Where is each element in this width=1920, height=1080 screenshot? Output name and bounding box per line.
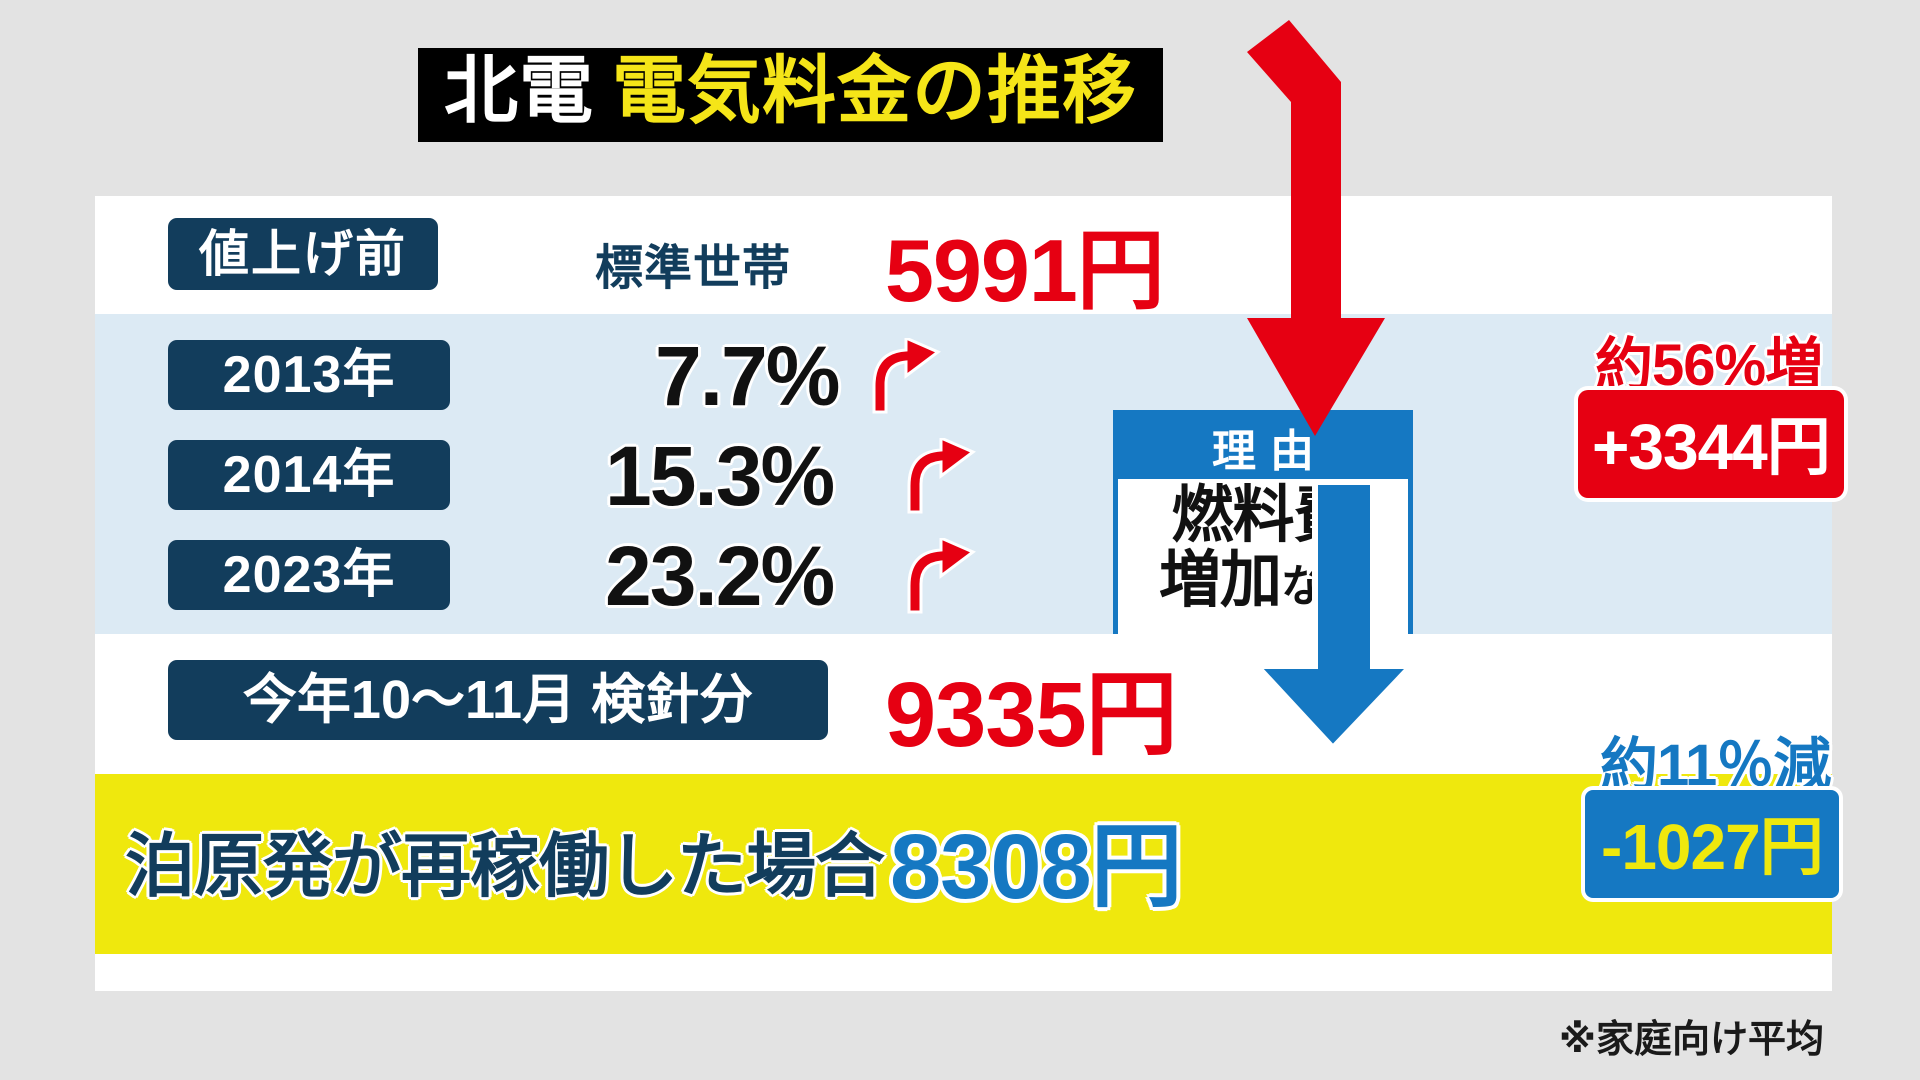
value-current-bill: 9335円 [885, 640, 1177, 773]
page-title: 北電 電気料金の推移 [418, 48, 1163, 142]
label-restart-scenario: 泊原発が再稼働した場合 [125, 810, 884, 911]
badge-year-2013: 2013年 [168, 340, 450, 410]
arrow-down-red-icon [1245, 18, 1405, 438]
value-percent-2014: 15.3% [605, 428, 833, 525]
row-rate-hikes: 2013年 7.7% 2014年 15.3% 2023年 23.2% [95, 314, 1832, 634]
badge-year-2014: 2014年 [168, 440, 450, 510]
badge-before-hike: 値上げ前 [168, 218, 438, 290]
arrow-up-icon [870, 338, 942, 414]
row-current-bill: 今年10〜11月 検針分 9335円 [95, 634, 1832, 774]
arrow-up-icon [905, 438, 977, 514]
arrow-down-blue-icon [1255, 480, 1415, 750]
callout-increase-amount: +3344円 [1578, 390, 1844, 498]
infographic-panel: 値上げ前 標準世帯 5991円 2013年 7.7% 2014年 15.3% [95, 196, 1832, 991]
badge-current-period: 今年10〜11月 検針分 [168, 660, 828, 740]
value-percent-2013: 7.7% [655, 328, 838, 425]
page-title-accent: 電気料金の推移 [612, 54, 1137, 128]
page-title-main: 北電 [444, 54, 594, 128]
callout-decrease-amount: -1027円 [1585, 790, 1839, 898]
value-percent-2023: 23.2% [605, 528, 833, 625]
badge-year-2023: 2023年 [168, 540, 450, 610]
table-row: 2023年 23.2% [95, 532, 1832, 626]
value-before-hike: 5991円 [885, 200, 1164, 327]
row-restart-scenario: 泊原発が再稼働した場合 8308円 [95, 774, 1832, 954]
table-row: 2014年 15.3% [95, 432, 1832, 526]
label-standard-household: 標準世帯 [595, 228, 791, 298]
row-before-hike: 値上げ前 標準世帯 5991円 [95, 196, 1832, 314]
row-footer-spacer [95, 954, 1832, 991]
table-row: 2013年 7.7% [95, 332, 1832, 426]
footnote: ※家庭向け平均 [1559, 1008, 1824, 1063]
value-restart-scenario: 8308円 [890, 792, 1182, 925]
arrow-up-icon [905, 538, 977, 614]
